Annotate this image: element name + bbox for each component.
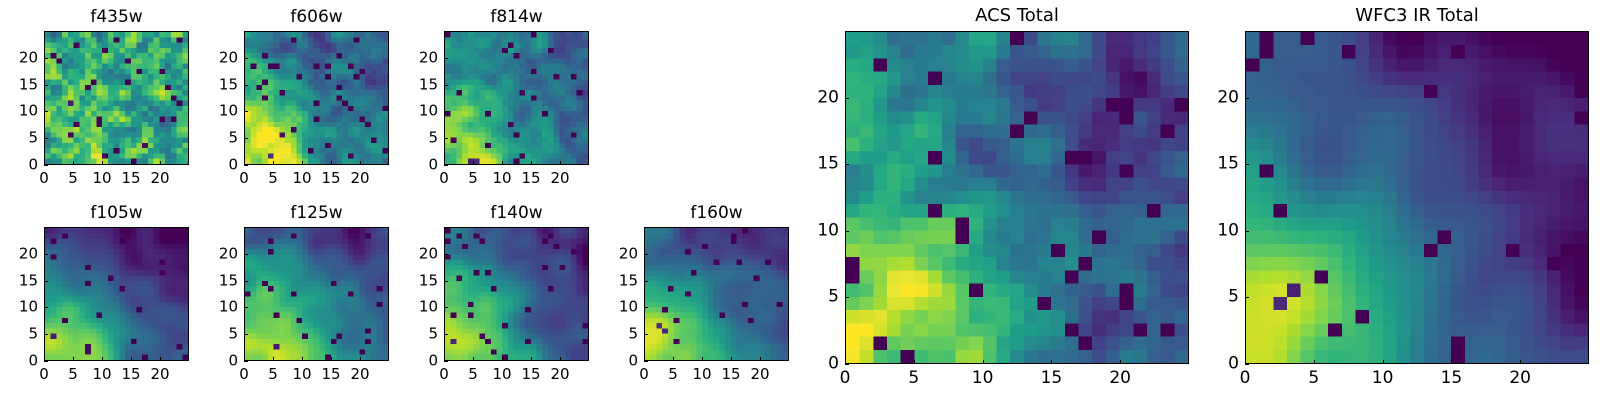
y-tick-mark bbox=[244, 361, 248, 362]
x-tick-mark bbox=[702, 357, 703, 361]
y-tick-mark bbox=[444, 361, 448, 362]
x-tick-mark bbox=[1383, 360, 1384, 364]
x-tick-mark bbox=[1520, 360, 1521, 364]
x-tick-label: 10 bbox=[972, 370, 994, 387]
x-tick-label: 0 bbox=[439, 367, 449, 382]
y-tick-label: 20 bbox=[219, 50, 238, 65]
x-tick-mark bbox=[473, 357, 474, 361]
y-tick-mark bbox=[44, 85, 48, 86]
x-tick-mark bbox=[131, 357, 132, 361]
y-tick-label: 5 bbox=[428, 131, 438, 146]
y-tick-mark bbox=[44, 165, 48, 166]
y-tick-mark bbox=[444, 111, 448, 112]
heatmap-f435w bbox=[44, 31, 189, 165]
y-tick-label: 5 bbox=[28, 131, 38, 146]
y-tick-mark bbox=[244, 334, 248, 335]
y-tick-mark bbox=[44, 111, 48, 112]
x-tick-mark bbox=[160, 161, 161, 165]
heatmap-wfc3-ir-total bbox=[1245, 31, 1589, 364]
x-tick-label: 10 bbox=[692, 367, 711, 382]
x-tick-mark bbox=[473, 161, 474, 165]
y-tick-label: 15 bbox=[219, 77, 238, 92]
panel-title-f125w: f125w bbox=[244, 205, 389, 222]
y-tick-mark bbox=[845, 231, 849, 232]
x-tick-label: 5 bbox=[468, 171, 478, 186]
x-tick-label: 5 bbox=[68, 367, 78, 382]
heatmap-f606w bbox=[244, 31, 389, 165]
panel-f160w: f160w0510152005101520 bbox=[644, 227, 789, 361]
y-tick-label: 0 bbox=[228, 354, 238, 369]
x-tick-label: 0 bbox=[39, 171, 49, 186]
x-tick-label: 5 bbox=[668, 367, 678, 382]
y-tick-label: 15 bbox=[419, 273, 438, 288]
x-tick-label: 0 bbox=[39, 367, 49, 382]
x-tick-mark bbox=[360, 357, 361, 361]
x-tick-mark bbox=[273, 357, 274, 361]
x-tick-label: 5 bbox=[1308, 370, 1319, 387]
y-tick-label: 15 bbox=[619, 273, 638, 288]
panel-f125w: f125w0510152005101520 bbox=[244, 227, 389, 361]
y-tick-mark bbox=[444, 165, 448, 166]
x-tick-label: 15 bbox=[121, 367, 140, 382]
x-tick-label: 0 bbox=[239, 171, 249, 186]
x-tick-label: 10 bbox=[292, 171, 311, 186]
x-tick-label: 0 bbox=[639, 367, 649, 382]
y-tick-mark bbox=[444, 58, 448, 59]
x-tick-mark bbox=[331, 357, 332, 361]
x-tick-label: 10 bbox=[1372, 370, 1394, 387]
x-tick-label: 10 bbox=[492, 171, 511, 186]
heatmap-canvas-f606w bbox=[245, 32, 388, 164]
x-tick-label: 5 bbox=[908, 370, 919, 387]
y-tick-label: 10 bbox=[19, 300, 38, 315]
y-tick-label: 5 bbox=[28, 327, 38, 342]
y-tick-label: 0 bbox=[28, 158, 38, 173]
y-tick-label: 0 bbox=[228, 158, 238, 173]
heatmap-canvas-acs-total bbox=[846, 32, 1188, 363]
y-tick-label: 0 bbox=[28, 354, 38, 369]
heatmap-f125w bbox=[244, 227, 389, 361]
y-tick-mark bbox=[644, 254, 648, 255]
panel-title-f160w: f160w bbox=[644, 205, 789, 222]
heatmap-canvas-f125w bbox=[245, 228, 388, 360]
x-tick-mark bbox=[914, 360, 915, 364]
y-tick-label: 10 bbox=[817, 222, 839, 239]
panel-title-f606w: f606w bbox=[244, 9, 389, 26]
x-tick-label: 20 bbox=[550, 171, 569, 186]
x-tick-label: 0 bbox=[840, 370, 851, 387]
x-tick-label: 15 bbox=[1441, 370, 1463, 387]
x-tick-mark bbox=[302, 357, 303, 361]
heatmap-acs-total bbox=[845, 31, 1189, 364]
y-tick-label: 20 bbox=[419, 246, 438, 261]
y-tick-label: 15 bbox=[19, 77, 38, 92]
x-tick-label: 5 bbox=[268, 367, 278, 382]
y-tick-label: 0 bbox=[428, 158, 438, 173]
x-tick-mark bbox=[1120, 360, 1121, 364]
x-tick-label: 10 bbox=[492, 367, 511, 382]
x-tick-mark bbox=[160, 357, 161, 361]
y-tick-label: 5 bbox=[228, 131, 238, 146]
y-tick-label: 0 bbox=[1228, 356, 1239, 373]
x-tick-label: 15 bbox=[1041, 370, 1063, 387]
x-tick-label: 15 bbox=[321, 171, 340, 186]
y-tick-label: 15 bbox=[219, 273, 238, 288]
y-tick-label: 20 bbox=[619, 246, 638, 261]
heatmap-canvas-f814w bbox=[445, 32, 588, 164]
x-tick-label: 15 bbox=[321, 367, 340, 382]
panel-f105w: f105w0510152005101520 bbox=[44, 227, 189, 361]
heatmap-canvas-f435w bbox=[45, 32, 188, 164]
x-tick-label: 10 bbox=[92, 367, 111, 382]
y-tick-mark bbox=[44, 307, 48, 308]
x-tick-label: 20 bbox=[350, 171, 369, 186]
x-tick-label: 20 bbox=[150, 367, 169, 382]
x-tick-label: 20 bbox=[550, 367, 569, 382]
y-tick-mark bbox=[644, 361, 648, 362]
x-tick-label: 20 bbox=[1509, 370, 1531, 387]
y-tick-label: 10 bbox=[419, 300, 438, 315]
panel-f140w: f140w0510152005101520 bbox=[444, 227, 589, 361]
y-tick-mark bbox=[244, 165, 248, 166]
panel-title-wfc3-ir-total: WFC3 IR Total bbox=[1245, 7, 1589, 25]
x-tick-mark bbox=[502, 161, 503, 165]
heatmap-f160w bbox=[644, 227, 789, 361]
y-tick-mark bbox=[244, 307, 248, 308]
x-tick-label: 15 bbox=[721, 367, 740, 382]
y-tick-mark bbox=[244, 281, 248, 282]
x-tick-label: 5 bbox=[468, 367, 478, 382]
y-tick-label: 10 bbox=[219, 104, 238, 119]
y-tick-mark bbox=[644, 307, 648, 308]
y-tick-label: 20 bbox=[219, 246, 238, 261]
panel-title-f105w: f105w bbox=[44, 205, 189, 222]
heatmap-canvas-f105w bbox=[45, 228, 188, 360]
y-tick-mark bbox=[644, 334, 648, 335]
y-tick-mark bbox=[1245, 98, 1249, 99]
x-tick-label: 10 bbox=[92, 171, 111, 186]
y-tick-mark bbox=[44, 334, 48, 335]
y-tick-mark bbox=[44, 254, 48, 255]
y-tick-mark bbox=[244, 254, 248, 255]
y-tick-mark bbox=[1245, 364, 1249, 365]
y-tick-label: 10 bbox=[1217, 222, 1239, 239]
x-tick-mark bbox=[1314, 360, 1315, 364]
figure-canvas: f435w0510152005101520f606w05101520051015… bbox=[0, 0, 1600, 400]
heatmap-canvas-wfc3-ir-total bbox=[1246, 32, 1588, 363]
y-tick-label: 0 bbox=[428, 354, 438, 369]
x-tick-mark bbox=[560, 357, 561, 361]
x-tick-label: 0 bbox=[239, 367, 249, 382]
y-tick-label: 20 bbox=[817, 89, 839, 106]
y-tick-mark bbox=[244, 58, 248, 59]
panel-f814w: f814w0510152005101520 bbox=[444, 31, 589, 165]
y-tick-label: 15 bbox=[419, 77, 438, 92]
y-tick-label: 5 bbox=[828, 289, 839, 306]
y-tick-label: 0 bbox=[828, 356, 839, 373]
y-tick-mark bbox=[44, 138, 48, 139]
x-tick-mark bbox=[731, 357, 732, 361]
y-tick-label: 10 bbox=[219, 300, 238, 315]
y-tick-label: 20 bbox=[1217, 89, 1239, 106]
heatmap-f814w bbox=[444, 31, 589, 165]
y-tick-label: 5 bbox=[428, 327, 438, 342]
x-tick-mark bbox=[73, 161, 74, 165]
panel-acs-total: ACS Total0510152005101520 bbox=[845, 31, 1189, 364]
y-tick-label: 10 bbox=[19, 104, 38, 119]
x-tick-mark bbox=[983, 360, 984, 364]
x-tick-mark bbox=[1051, 360, 1052, 364]
y-tick-label: 15 bbox=[19, 273, 38, 288]
x-tick-mark bbox=[531, 357, 532, 361]
x-tick-label: 15 bbox=[521, 171, 540, 186]
y-tick-mark bbox=[244, 138, 248, 139]
y-tick-label: 0 bbox=[628, 354, 638, 369]
y-tick-mark bbox=[845, 164, 849, 165]
x-tick-mark bbox=[531, 161, 532, 165]
y-tick-mark bbox=[444, 138, 448, 139]
panel-title-acs-total: ACS Total bbox=[845, 7, 1189, 25]
panel-title-f435w: f435w bbox=[44, 9, 189, 26]
x-tick-mark bbox=[102, 161, 103, 165]
x-tick-label: 20 bbox=[350, 367, 369, 382]
x-tick-label: 0 bbox=[439, 171, 449, 186]
x-tick-mark bbox=[273, 161, 274, 165]
y-tick-mark bbox=[44, 58, 48, 59]
y-tick-mark bbox=[845, 364, 849, 365]
x-tick-mark bbox=[760, 357, 761, 361]
x-tick-mark bbox=[73, 357, 74, 361]
x-tick-label: 10 bbox=[292, 367, 311, 382]
y-tick-label: 10 bbox=[419, 104, 438, 119]
x-tick-label: 5 bbox=[268, 171, 278, 186]
x-tick-mark bbox=[302, 161, 303, 165]
panel-wfc3-ir-total: WFC3 IR Total0510152005101520 bbox=[1245, 31, 1589, 364]
y-tick-mark bbox=[444, 254, 448, 255]
y-tick-mark bbox=[444, 307, 448, 308]
x-tick-label: 20 bbox=[750, 367, 769, 382]
panel-f606w: f606w0510152005101520 bbox=[244, 31, 389, 165]
y-tick-mark bbox=[1245, 231, 1249, 232]
y-tick-mark bbox=[444, 334, 448, 335]
x-tick-mark bbox=[360, 161, 361, 165]
x-tick-label: 15 bbox=[121, 171, 140, 186]
y-tick-label: 20 bbox=[419, 50, 438, 65]
x-tick-mark bbox=[673, 357, 674, 361]
y-tick-label: 20 bbox=[19, 246, 38, 261]
x-tick-mark bbox=[131, 161, 132, 165]
x-tick-mark bbox=[331, 161, 332, 165]
y-tick-mark bbox=[444, 85, 448, 86]
y-tick-mark bbox=[244, 111, 248, 112]
y-tick-mark bbox=[44, 281, 48, 282]
heatmap-f105w bbox=[44, 227, 189, 361]
y-tick-mark bbox=[845, 98, 849, 99]
y-tick-mark bbox=[44, 361, 48, 362]
x-tick-label: 20 bbox=[1109, 370, 1131, 387]
heatmap-canvas-f140w bbox=[445, 228, 588, 360]
y-tick-mark bbox=[1245, 164, 1249, 165]
panel-title-f140w: f140w bbox=[444, 205, 589, 222]
heatmap-f140w bbox=[444, 227, 589, 361]
y-tick-label: 10 bbox=[619, 300, 638, 315]
heatmap-canvas-f160w bbox=[645, 228, 788, 360]
y-tick-label: 15 bbox=[1217, 156, 1239, 173]
panel-title-f814w: f814w bbox=[444, 9, 589, 26]
x-tick-mark bbox=[502, 357, 503, 361]
y-tick-label: 5 bbox=[628, 327, 638, 342]
y-tick-label: 15 bbox=[817, 156, 839, 173]
x-tick-label: 5 bbox=[68, 171, 78, 186]
y-tick-label: 5 bbox=[1228, 289, 1239, 306]
y-tick-mark bbox=[845, 297, 849, 298]
y-tick-mark bbox=[244, 85, 248, 86]
y-tick-mark bbox=[644, 281, 648, 282]
x-tick-label: 15 bbox=[521, 367, 540, 382]
x-tick-label: 0 bbox=[1240, 370, 1251, 387]
y-tick-label: 20 bbox=[19, 50, 38, 65]
x-tick-label: 20 bbox=[150, 171, 169, 186]
x-tick-mark bbox=[560, 161, 561, 165]
x-tick-mark bbox=[102, 357, 103, 361]
x-tick-mark bbox=[1451, 360, 1452, 364]
y-tick-label: 5 bbox=[228, 327, 238, 342]
y-tick-mark bbox=[1245, 297, 1249, 298]
y-tick-mark bbox=[444, 281, 448, 282]
panel-f435w: f435w0510152005101520 bbox=[44, 31, 189, 165]
